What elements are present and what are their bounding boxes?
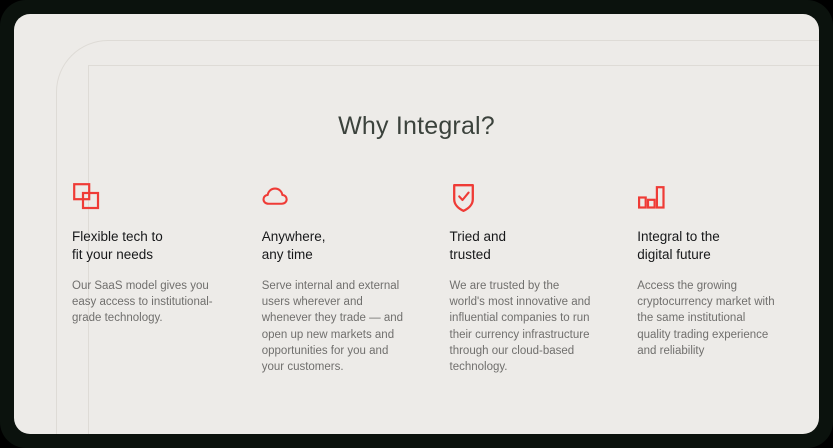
feature-description: Our SaaS model gives you easy access to … xyxy=(72,278,214,327)
feature-title: Anywhere, any time xyxy=(262,228,404,264)
cloud-icon xyxy=(262,182,404,216)
overlapping-squares-icon xyxy=(72,182,214,216)
section-why-integral: Why Integral? Flexible tech to fit your … xyxy=(14,14,819,434)
feature-card-flexible-tech: Flexible tech to fit your needs Our SaaS… xyxy=(58,182,248,375)
feature-list: Flexible tech to fit your needs Our SaaS… xyxy=(58,182,797,375)
device-frame: Why Integral? Flexible tech to fit your … xyxy=(0,0,833,448)
feature-description: We are trusted by the world's most innov… xyxy=(450,278,592,375)
feature-description: Serve internal and external users wherev… xyxy=(262,278,404,375)
feature-title: Flexible tech to fit your needs xyxy=(72,228,214,264)
page-title: Why Integral? xyxy=(14,112,819,141)
feature-title: Integral to the digital future xyxy=(637,228,779,264)
feature-description: Access the growing cryptocurrency market… xyxy=(637,278,779,359)
feature-title: Tried and trusted xyxy=(450,228,592,264)
bar-chart-icon xyxy=(637,182,779,216)
feature-card-anywhere-any-time: Anywhere, any time Serve internal and ex… xyxy=(248,182,438,375)
page-panel: Why Integral? Flexible tech to fit your … xyxy=(14,14,819,434)
feature-card-integral-digital-future: Integral to the digital future Access th… xyxy=(625,182,797,375)
shield-check-icon xyxy=(450,182,592,216)
feature-card-tried-and-trusted: Tried and trusted We are trusted by the … xyxy=(438,182,626,375)
